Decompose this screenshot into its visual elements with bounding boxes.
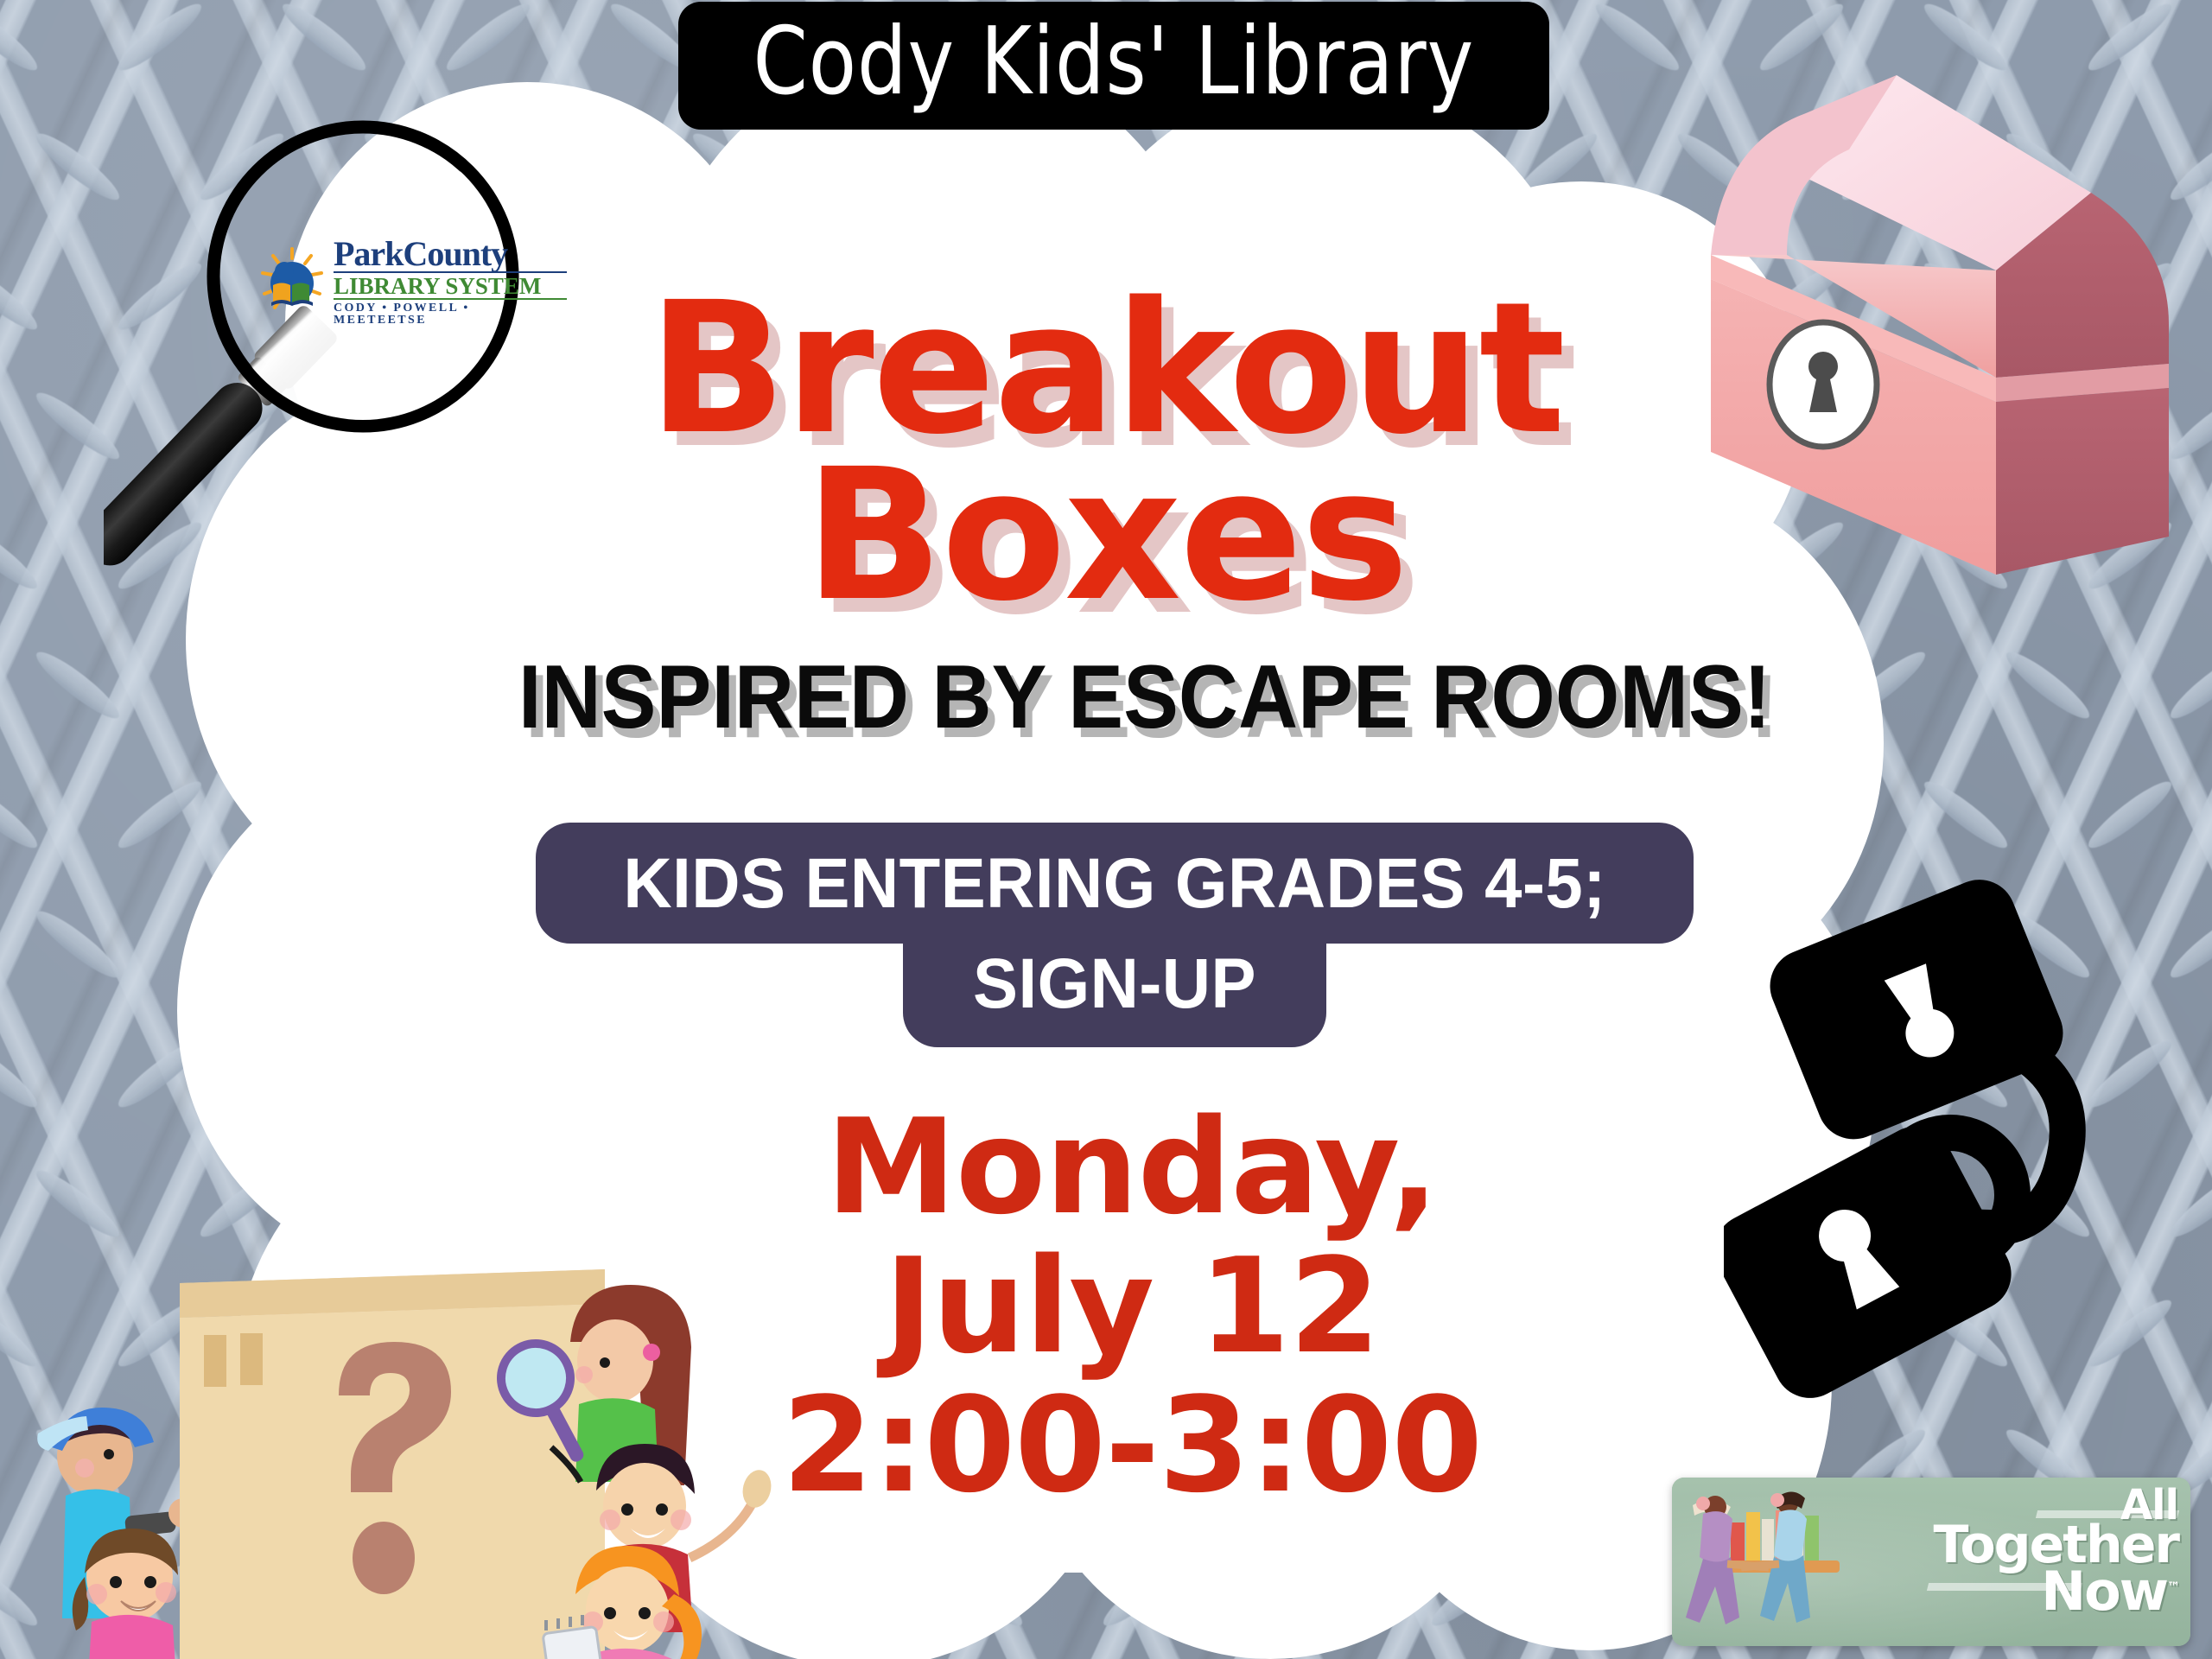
subtitle-text: INSPIRED BY ESCAPE ROOMS! [518, 646, 1711, 749]
page-title: Breakout Boxes [553, 285, 1659, 619]
mystery-box [180, 1269, 605, 1659]
audience-badge-line1: KIDS ENTERING GRADES 4-5; [598, 847, 1632, 921]
treasure-chest-icon [1685, 39, 2212, 609]
audience-badge-line2: SIGN-UP [938, 947, 1292, 1021]
event-day: Monday, [674, 1097, 1590, 1236]
poster-canvas: ParkCounty LIBRARY SYSTEM CODY • POWELL … [0, 0, 2212, 1659]
audience-badge-row1: KIDS ENTERING GRADES 4-5; [536, 823, 1694, 944]
headline-line-2: Boxes [553, 452, 1659, 619]
event-date: July 12 [674, 1236, 1590, 1376]
event-datetime: Monday, July 12 2:00-3:00 [674, 1097, 1590, 1515]
library-name-text: Cody Kids' Library [753, 16, 1475, 116]
audience-badge: KIDS ENTERING GRADES 4-5; SIGN-UP [536, 823, 1694, 1047]
event-time: 2:00-3:00 [674, 1376, 1590, 1515]
audience-badge-row2: SIGN-UP [903, 938, 1326, 1047]
magnifying-glass-icon [104, 78, 588, 700]
summer-reading-logo: All Together Now™ [1672, 1478, 2190, 1646]
trademark-symbol: ™ [2167, 1579, 2178, 1594]
library-name-banner: Cody Kids' Library [678, 2, 1549, 130]
summer-reading-logo-text: All Together Now™ [1893, 1488, 2178, 1635]
padlock-pair-icon [1724, 864, 2173, 1434]
headline-line-1: Breakout [553, 285, 1659, 452]
